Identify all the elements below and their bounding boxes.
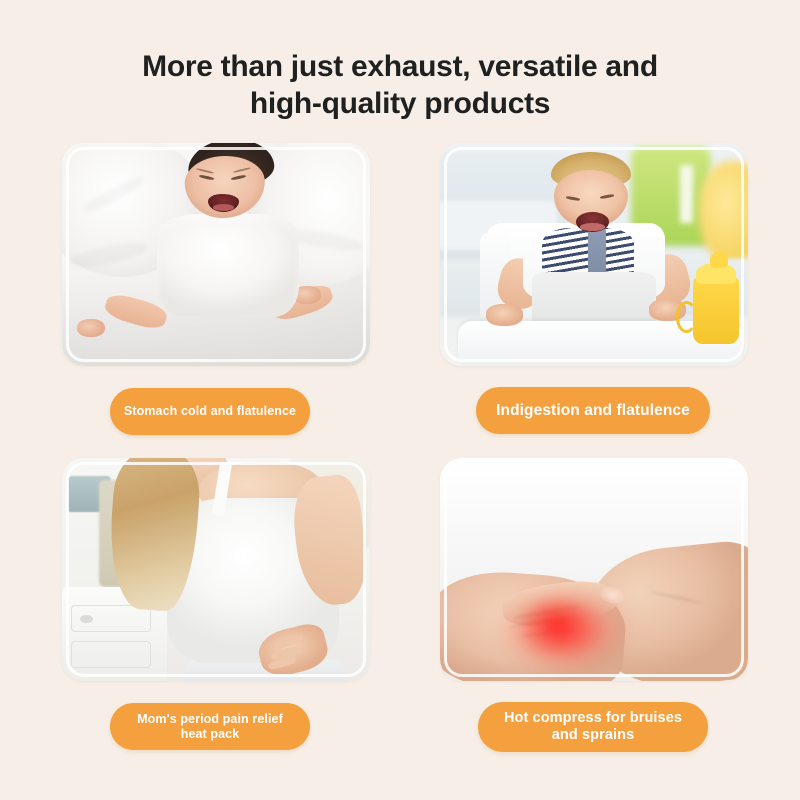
background-yellow-object	[699, 161, 748, 264]
photo-card-stomach-cold[interactable]	[62, 143, 370, 366]
feature-cell-indigestion	[440, 143, 748, 366]
dresser-drawer	[71, 641, 151, 668]
label-pill-stomach-cold[interactable]: Stomach cold and flatulence	[110, 388, 310, 435]
label-pill-indigestion[interactable]: Indigestion and flatulence	[476, 387, 710, 434]
sippy-cup-spout	[710, 252, 728, 268]
red-pain-glow-core	[520, 596, 594, 654]
label-pill-bruises-sprains[interactable]: Hot compress for bruises and sprains	[478, 702, 708, 752]
hand-wrist-pain-photo	[440, 458, 748, 681]
background-green-chair-gap	[680, 165, 692, 223]
feature-cell-stomach-cold	[62, 143, 370, 366]
photo-card-period-pain[interactable]	[62, 458, 370, 681]
toddler-hand-left	[486, 304, 523, 326]
page-title-line-2: high-quality products	[0, 85, 800, 122]
photo-card-bruises-sprains[interactable]	[440, 458, 748, 681]
label-pill-period-pain[interactable]: Mom's period pain relief heat pack	[110, 703, 310, 750]
toddler-tongue	[580, 223, 605, 231]
feature-cell-period-pain	[62, 458, 370, 681]
page-title-line-1: More than just exhaust, versatile and	[142, 50, 658, 83]
photo-card-indigestion[interactable]	[440, 143, 748, 366]
crying-baby-on-bed-photo	[62, 143, 370, 366]
page-title: More than just exhaust, versatile and hi…	[0, 48, 800, 122]
feature-cell-bruises-sprains	[440, 458, 748, 681]
woman-abdominal-pain-photo	[62, 458, 370, 681]
crying-toddler-highchair-photo	[440, 143, 748, 366]
baby-hand-left	[77, 319, 105, 337]
sippy-cup-body	[693, 277, 739, 344]
baby-onesie	[157, 214, 299, 317]
